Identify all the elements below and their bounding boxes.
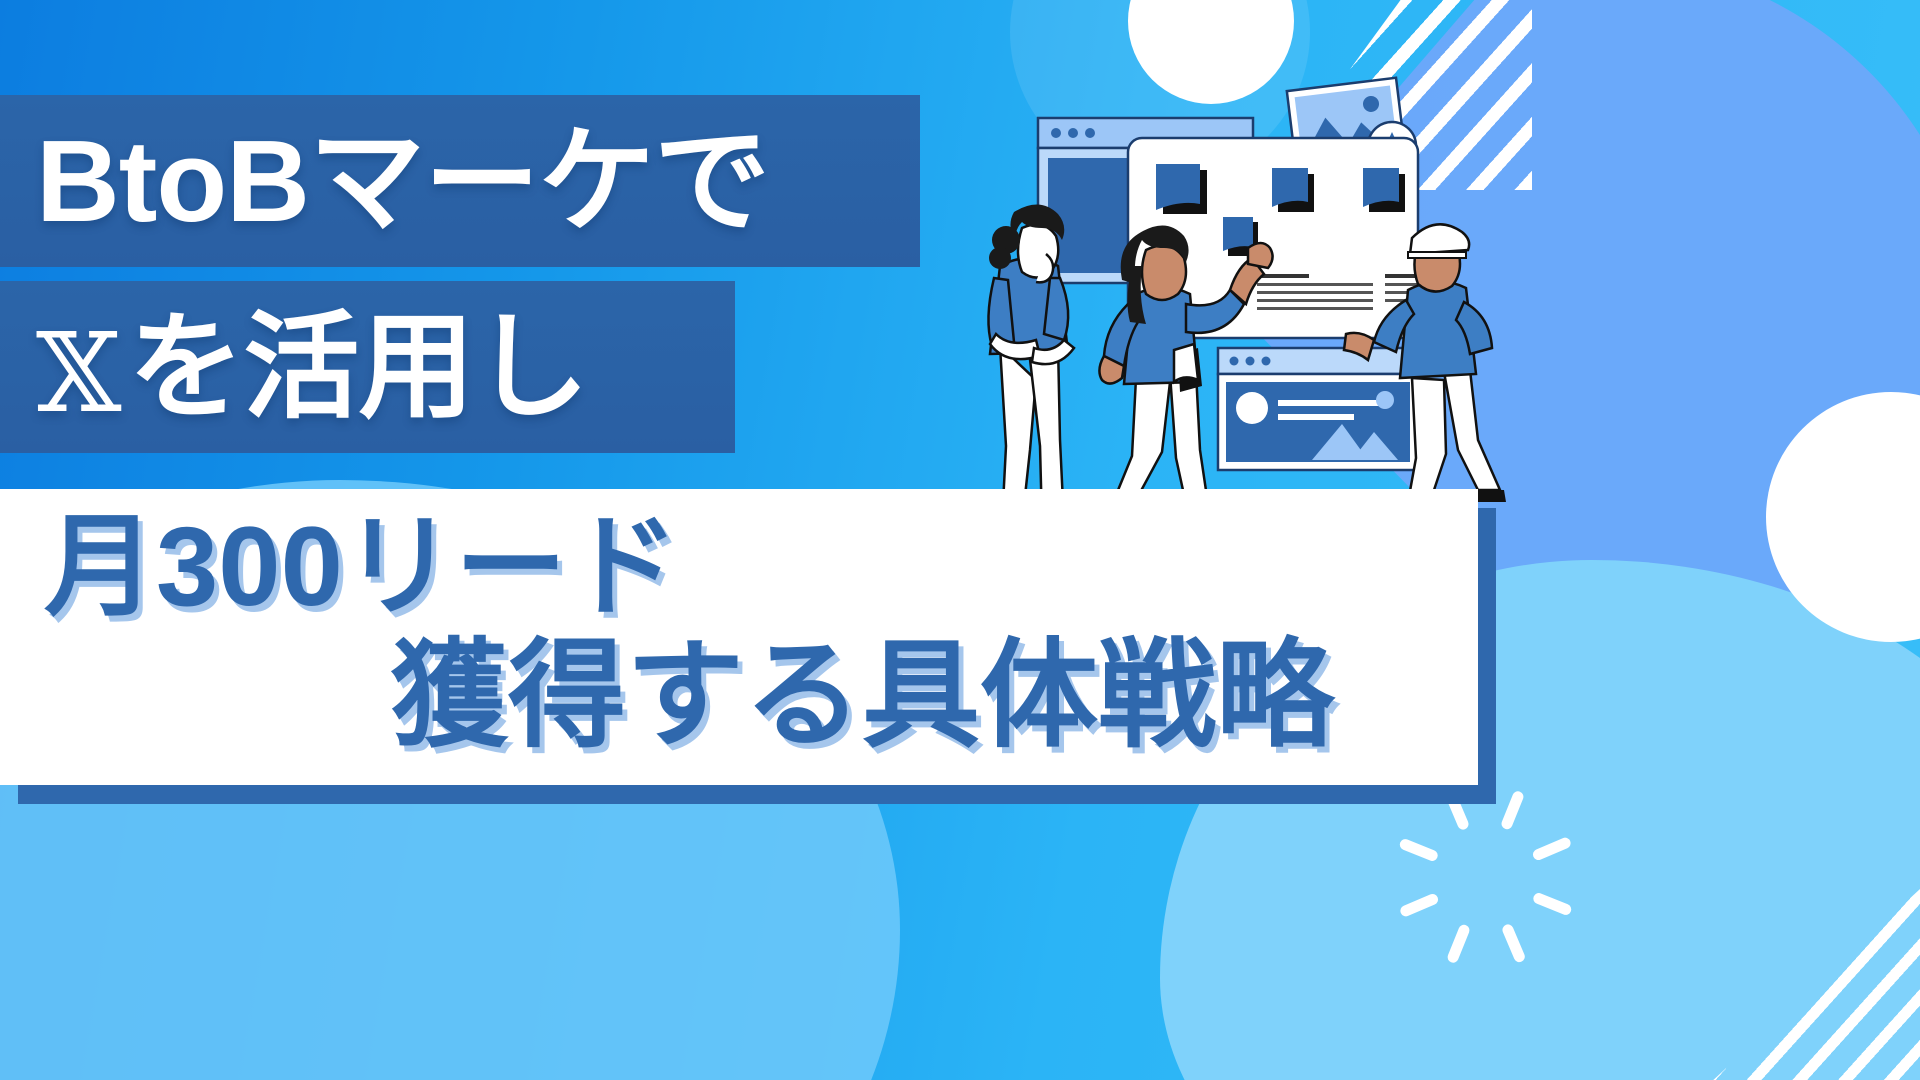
sunburst-ray xyxy=(1499,790,1524,831)
sunburst-ray xyxy=(1445,923,1470,964)
headline-line-2: 𝕏を活用し xyxy=(0,309,588,425)
browser-window-front-icon xyxy=(1218,348,1418,470)
sunburst-rays-decor xyxy=(1400,792,1570,962)
thumbnail-canvas: BtoBマーケで 𝕏を活用し 月300リード 獲得する具体戦略 xyxy=(0,0,1920,1080)
sunburst-ray xyxy=(1398,892,1439,918)
card-line-2: 獲得する具体戦略 xyxy=(390,637,1334,755)
sunburst-ray xyxy=(1500,923,1526,964)
headline-line-2-text: を活用し xyxy=(128,302,588,432)
sunburst-ray xyxy=(1531,891,1572,916)
headline-band-2: 𝕏を活用し xyxy=(0,281,735,453)
x-logo-icon: 𝕏 xyxy=(36,318,128,428)
team-collaboration-illustration xyxy=(960,78,1480,498)
headline-line-1: BtoBマーケで xyxy=(0,123,769,239)
sunburst-ray xyxy=(1531,836,1572,862)
sunburst-ray xyxy=(1398,837,1439,862)
card-line-1: 月300リード xyxy=(44,511,679,623)
subheadline-card: 月300リード 獲得する具体戦略 xyxy=(0,489,1478,785)
headline-band-1: BtoBマーケで xyxy=(0,95,920,267)
